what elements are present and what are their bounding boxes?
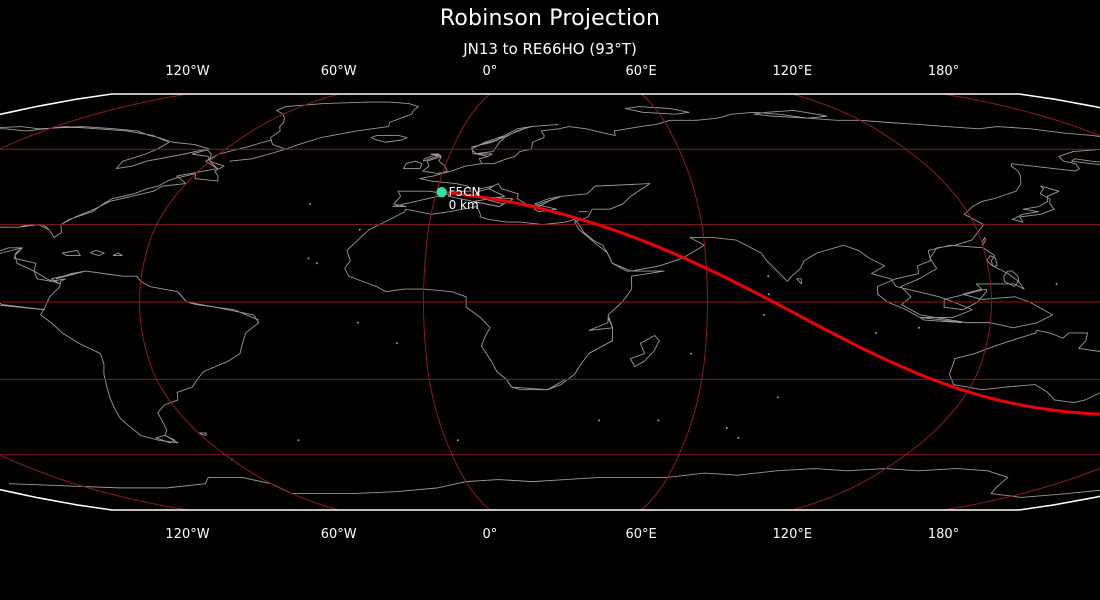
longitude-tick-label: 60°W xyxy=(321,64,357,79)
station-label-callsign: F5CN xyxy=(449,185,481,199)
world-map[interactable]: F5CN0 kmZL3TUX19,182 km 60°W60°W0°0°60°E… xyxy=(0,0,1100,600)
longitude-tick-label: 120°W xyxy=(165,527,209,542)
station-markers[interactable]: F5CN0 kmZL3TUX19,182 km xyxy=(436,185,1100,434)
longitude-tick-label: 120°E xyxy=(773,64,813,79)
longitude-tick-label: 60°E xyxy=(625,64,656,79)
longitude-tick-label: 180° xyxy=(928,64,959,79)
coastlines-layer xyxy=(0,102,1100,497)
axis-labels-layer: 60°W60°W0°0°60°E60°E120°E120°E180°180°12… xyxy=(0,64,959,542)
longitude-tick-label: 120°W xyxy=(165,64,209,79)
longitude-tick-label: 180° xyxy=(928,527,959,542)
longitude-tick-label: 60°W xyxy=(321,527,357,542)
station-label-distance: 0 km xyxy=(449,198,479,212)
map-application: Robinson Projection JN13 to RE66HO (93°T… xyxy=(0,0,1100,600)
longitude-tick-label: 60°E xyxy=(625,527,656,542)
station-marker-f5cn[interactable] xyxy=(436,187,446,197)
longitude-tick-label: 0° xyxy=(483,64,498,79)
longitude-tick-label: 0° xyxy=(483,527,498,542)
great-circle-route xyxy=(442,192,1100,415)
graticule-layer xyxy=(0,94,1100,510)
longitude-tick-label: 120°E xyxy=(773,527,813,542)
